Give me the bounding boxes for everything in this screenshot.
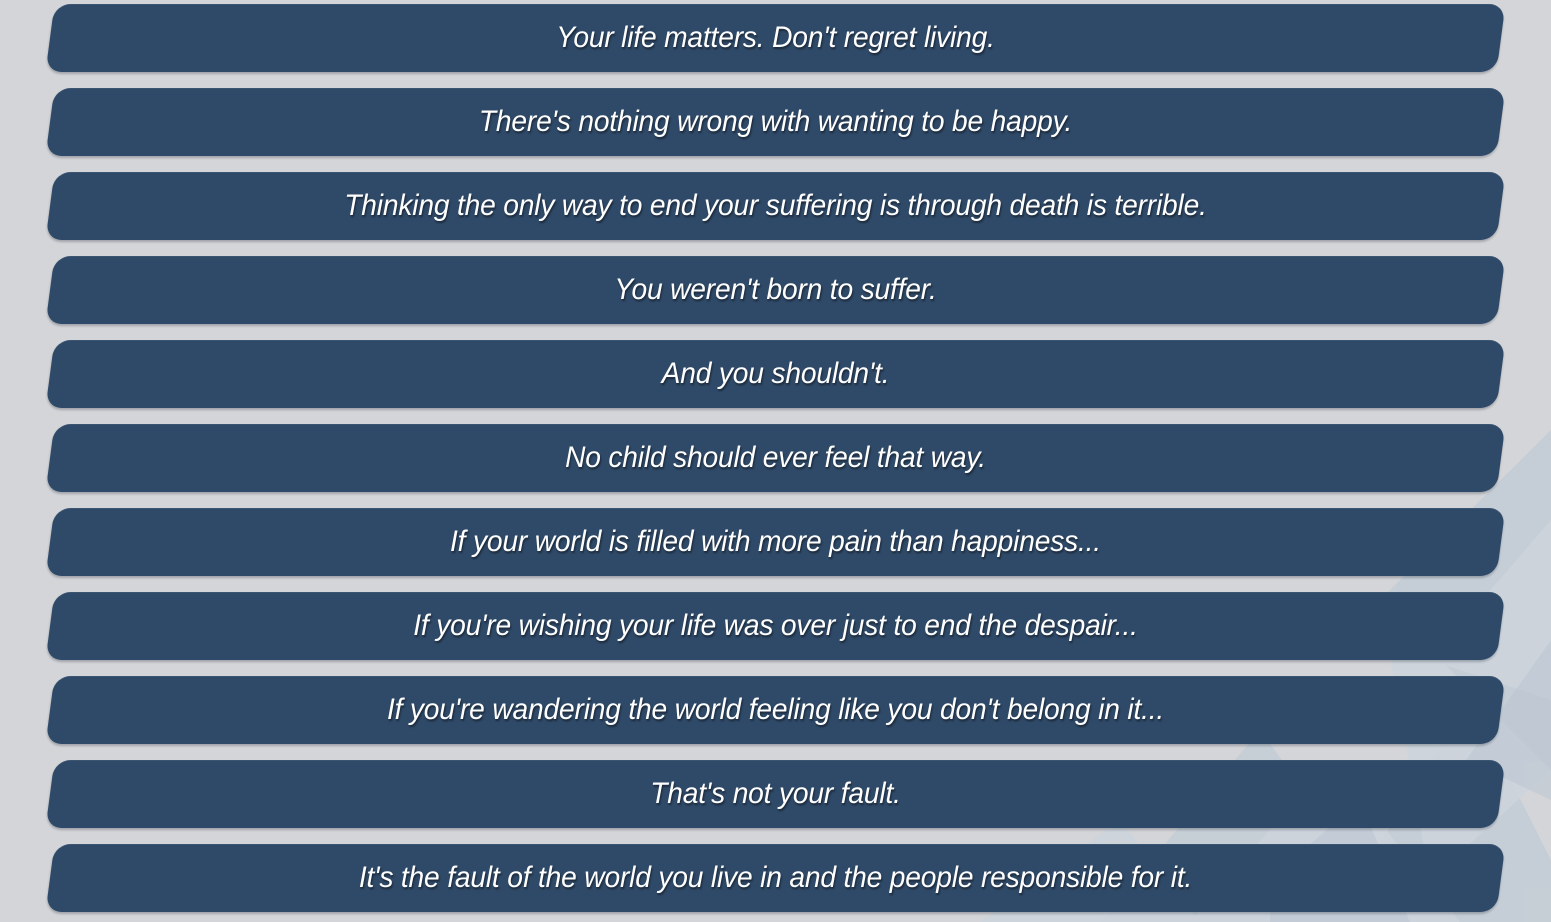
quote-bar-text: No child should ever feel that way.	[103, 424, 1448, 492]
quote-bar-row[interactable]: Your life matters. Don't regret living.	[0, 4, 1551, 72]
quote-bar-text: It's the fault of the world you live in …	[103, 844, 1448, 912]
quote-bar-text: Thinking the only way to end your suffer…	[103, 172, 1448, 240]
quote-bar-stage: Your life matters. Don't regret living. …	[0, 0, 1551, 922]
quote-bar-list: Your life matters. Don't regret living. …	[0, 0, 1551, 922]
quote-bar-row[interactable]: No child should ever feel that way.	[0, 424, 1551, 492]
quote-bar-row[interactable]: There's nothing wrong with wanting to be…	[0, 88, 1551, 156]
quote-bar-text: If you're wishing your life was over jus…	[103, 592, 1448, 660]
quote-bar-row[interactable]: If you're wandering the world feeling li…	[0, 676, 1551, 744]
quote-bar-text: There's nothing wrong with wanting to be…	[103, 88, 1448, 156]
quote-bar-text: Your life matters. Don't regret living.	[103, 4, 1448, 72]
quote-bar-row[interactable]: And you shouldn't.	[0, 340, 1551, 408]
quote-bar-text: You weren't born to suffer.	[103, 256, 1448, 324]
quote-bar-text: If your world is filled with more pain t…	[103, 508, 1448, 576]
quote-bar-row[interactable]: You weren't born to suffer.	[0, 256, 1551, 324]
quote-bar-row[interactable]: If your world is filled with more pain t…	[0, 508, 1551, 576]
quote-bar-row[interactable]: Thinking the only way to end your suffer…	[0, 172, 1551, 240]
quote-bar-row[interactable]: If you're wishing your life was over jus…	[0, 592, 1551, 660]
quote-bar-row[interactable]: That's not your fault.	[0, 760, 1551, 828]
quote-bar-text: If you're wandering the world feeling li…	[103, 676, 1448, 744]
quote-bar-text: That's not your fault.	[103, 760, 1448, 828]
quote-bar-text: And you shouldn't.	[103, 340, 1448, 408]
quote-bar-row[interactable]: It's the fault of the world you live in …	[0, 844, 1551, 912]
